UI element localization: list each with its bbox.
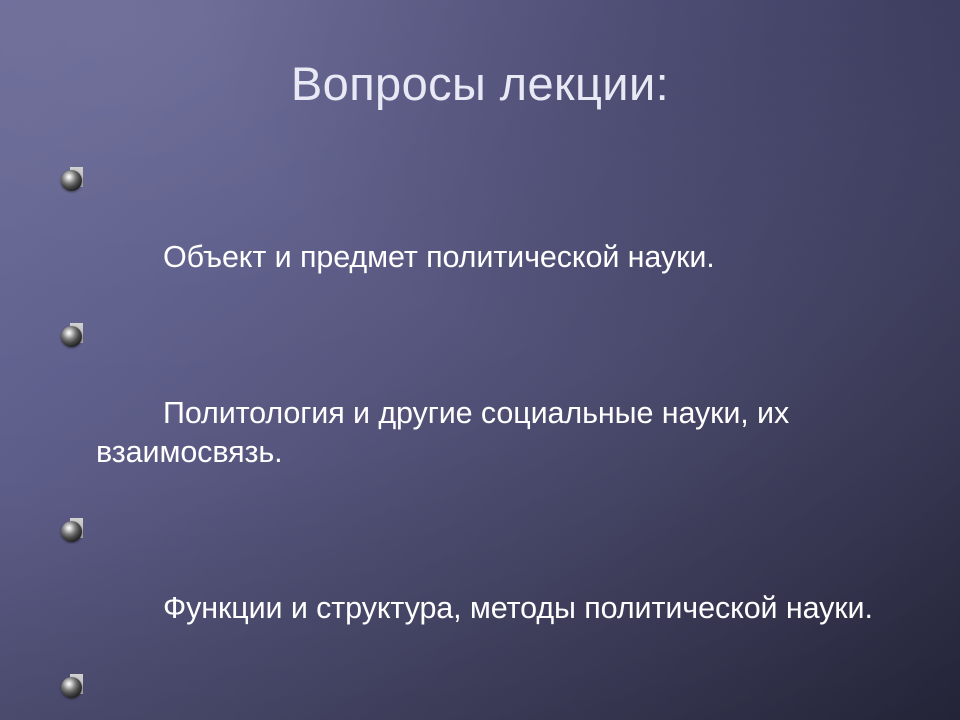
bullet-list: Объект и предмет политической науки. Пол… bbox=[56, 160, 920, 720]
slide-title: Вопросы лекции: bbox=[0, 58, 960, 110]
bullet-item: Объект и предмет политической науки. bbox=[56, 160, 920, 316]
bullet-text: Политология и другие социальные науки, и… bbox=[96, 396, 798, 469]
sphere-bullet-icon bbox=[61, 518, 87, 544]
sphere-bullet-icon bbox=[61, 167, 87, 193]
bullet-item: Этапы становления и развития политическо… bbox=[56, 667, 920, 720]
bullet-text: Объект и предмет политической науки. bbox=[163, 240, 715, 274]
bullet-item: Функции и структура, методы политической… bbox=[56, 511, 920, 667]
presentation-slide: Вопросы лекции: Объект и предмет политич… bbox=[0, 0, 960, 720]
slide-content: Вопросы лекции: Объект и предмет политич… bbox=[0, 0, 960, 720]
bullet-text: Функции и структура, методы политической… bbox=[163, 591, 873, 625]
sphere-bullet-icon bbox=[61, 674, 87, 700]
bullet-item: Политология и другие социальные науки, и… bbox=[56, 316, 920, 511]
sphere-bullet-icon bbox=[61, 323, 87, 349]
